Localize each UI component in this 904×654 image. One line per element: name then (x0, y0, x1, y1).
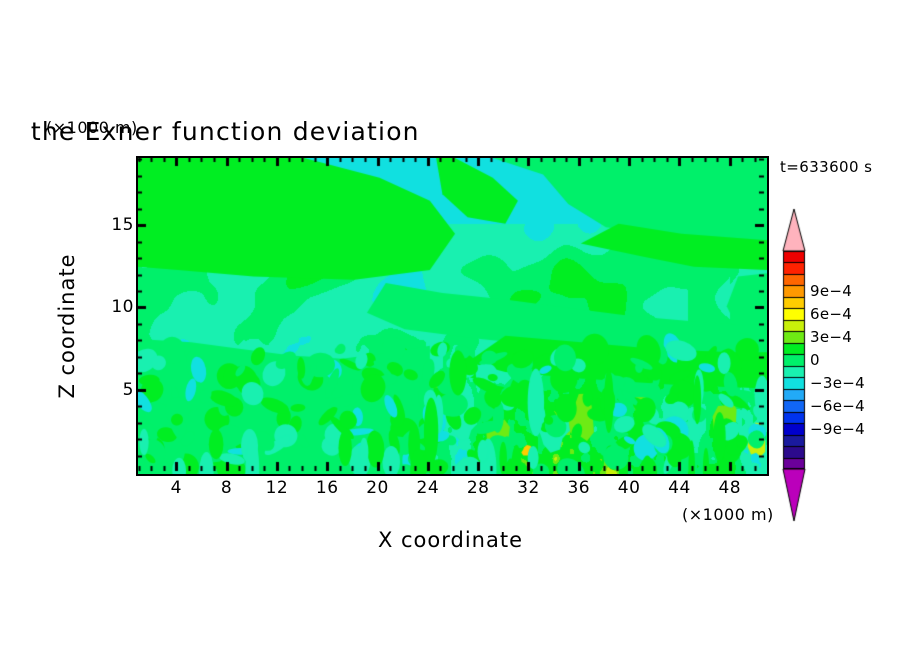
x-tick-label: 8 (221, 478, 232, 498)
x-tick-label: 36 (567, 478, 590, 498)
colorbar-tick-label: 0 (810, 351, 820, 369)
y-tick-label: 15 (90, 215, 134, 235)
colorbar-tick-label: 3e−4 (810, 328, 852, 346)
contour-field (138, 158, 767, 474)
x-tick-label: 16 (316, 478, 339, 498)
x-tick-label: 40 (618, 478, 641, 498)
x-axis-title: X coordinate (136, 528, 765, 552)
colorbar-tick-label: 6e−4 (810, 305, 852, 323)
contour-plot-area (136, 156, 769, 476)
x-tick-label: 12 (266, 478, 289, 498)
y-tick-label: 10 (90, 297, 134, 317)
x-tick-label: 28 (467, 478, 490, 498)
colorbar-tick-label: −9e−4 (810, 420, 865, 438)
x-tick-label: 4 (171, 478, 182, 498)
colorbar-tick-label: 9e−4 (810, 282, 852, 300)
y-axis-units-label: (×1000 m) (46, 118, 138, 137)
x-tick-label: 32 (517, 478, 540, 498)
y-tick-label: 5 (90, 380, 134, 400)
colorbar-tick-label: −6e−4 (810, 397, 865, 415)
x-axis-tick-labels: 4812162024283236404448 (136, 478, 765, 504)
y-axis-tick-labels: 51015 (90, 156, 134, 472)
x-tick-label: 24 (417, 478, 440, 498)
colorbar (781, 205, 805, 505)
x-tick-label: 44 (668, 478, 691, 498)
x-tick-label: 20 (366, 478, 389, 498)
x-axis-units-label: (×1000 m) (682, 505, 774, 524)
x-tick-label: 48 (718, 478, 741, 498)
y-axis-title: Z coordinate (55, 196, 79, 456)
timestamp-label: t=633600 s (780, 158, 872, 176)
figure-canvas: the Exner function deviation (×1000 m) t… (0, 0, 904, 654)
colorbar-tick-labels: 9e−46e−43e−40−3e−4−6e−4−9e−4 (810, 205, 902, 505)
colorbar-tick-label: −3e−4 (810, 374, 865, 392)
